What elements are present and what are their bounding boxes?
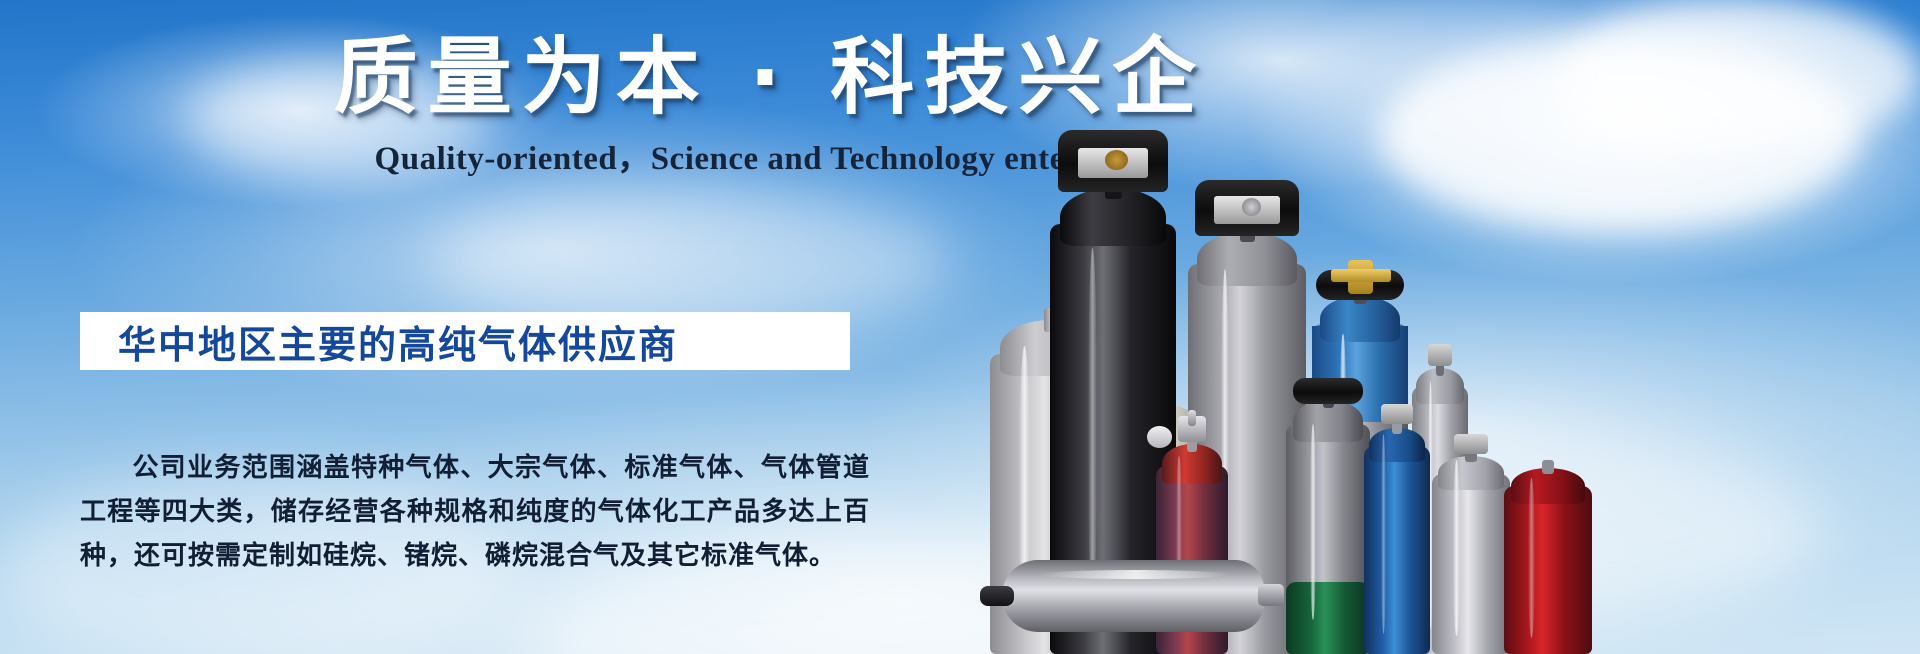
- cylinder-red: [1504, 454, 1592, 654]
- cylinder-blue-slim: [1364, 404, 1430, 654]
- cylinder-green-base: [1286, 374, 1370, 654]
- highlight-strip-text: 华中地区主要的高纯气体供应商: [80, 314, 678, 369]
- cloud-shape: [430, 190, 950, 330]
- hero-banner: 质量为本 · 科技兴企 Quality-oriented，Science and…: [0, 0, 1920, 654]
- cylinder-horizontal: [980, 560, 1280, 632]
- highlight-strip: 华中地区主要的高纯气体供应商: [80, 312, 850, 370]
- cylinder-aluminium-medium: [1432, 434, 1510, 654]
- paragraph-text: 公司业务范围涵盖特种气体、大宗气体、标准气体、气体管道工程等四大类，储存经营各种…: [80, 453, 870, 571]
- gas-cylinders-photo: [960, 0, 1920, 654]
- banner-description: 公司业务范围涵盖特种气体、大宗气体、标准气体、气体管道工程等四大类，储存经营各种…: [80, 446, 870, 578]
